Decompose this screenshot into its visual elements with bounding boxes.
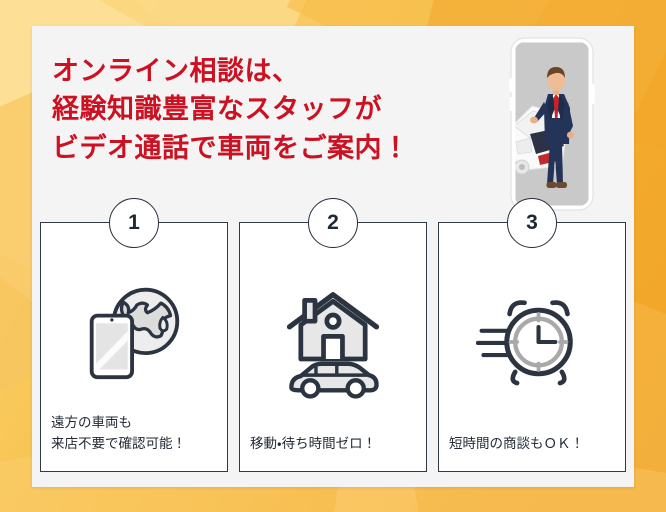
card-number-badge: 3 [507,198,557,248]
headline-line-1: オンライン相談は、 [52,52,492,90]
caption-line-1: 遠方の車両も [51,413,217,434]
headline-line-2: 経験知識豊富なスタッフが [52,90,492,128]
card-caption: 移動・待ち時間ゼロ！ [240,434,426,471]
house-and-car-icon [240,223,426,434]
headline-line-3: ビデオ通話で車両をご案内！ [52,129,492,167]
alarm-clock-speed-icon [439,223,625,434]
feature-card-2[interactable]: 2 [239,222,427,472]
online-consultation-banner: オンライン相談は、 経験知識豊富なスタッフが ビデオ通話で車両をご案内！ [0,0,666,512]
card-number-badge: 1 [109,198,159,248]
headline: オンライン相談は、 経験知識豊富なスタッフが ビデオ通話で車両をご案内！ [52,52,492,167]
caption-line-1: 移動・待ち時間ゼロ！ [250,434,416,455]
feature-card-3[interactable]: 3 [438,222,626,472]
caption-line-2: 来店不要で確認可能！ [51,434,217,455]
hero-phone-illustration [506,34,598,214]
card-caption: 短時間の商談もＯＫ！ [439,434,625,471]
content-panel: オンライン相談は、 経験知識豊富なスタッフが ビデオ通話で車両をご案内！ [32,26,634,487]
feature-cards: 1 遠方の車両も [40,210,626,472]
caption-line-1: 短時間の商談もＯＫ！ [449,434,615,455]
feature-card-1[interactable]: 1 遠方の車両も [40,222,228,472]
card-number-badge: 2 [308,198,358,248]
globe-and-smartphone-icon [41,223,227,413]
card-caption: 遠方の車両も 来店不要で確認可能！ [41,413,227,471]
